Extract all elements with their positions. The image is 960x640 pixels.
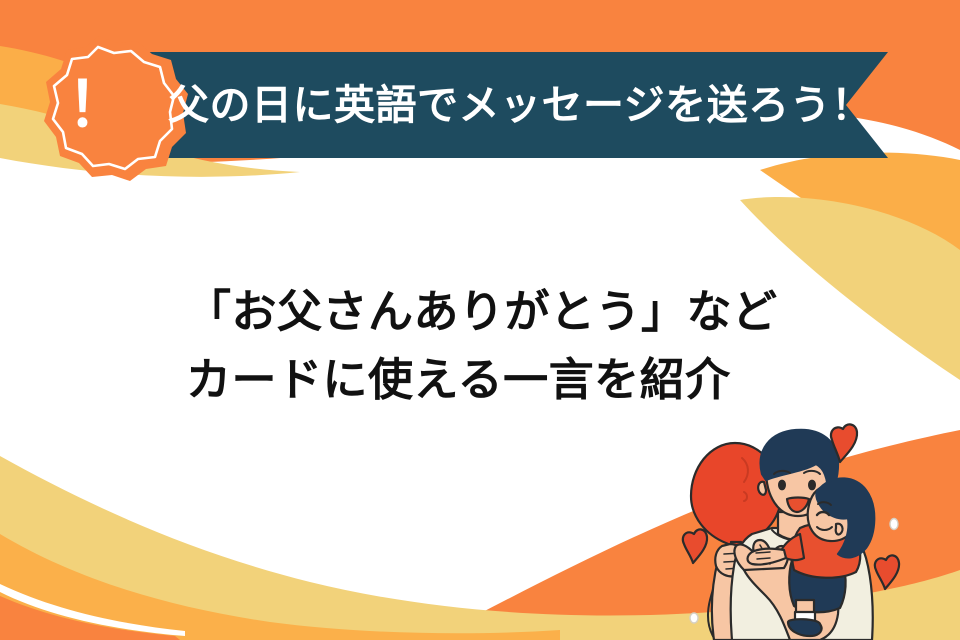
headline-line-1: 「お父さんありがとう」など (186, 278, 806, 346)
headline-line-2: カードに使える一言を紹介 (186, 346, 806, 414)
ribbon-title-text: 父の日に英語でメッセージを送ろう！ (168, 70, 858, 140)
headline: 「お父さんありがとう」など カードに使える一言を紹介 (186, 278, 806, 415)
badge-exclamation-mark: ！ (64, 62, 132, 150)
thumbnail-canvas: ！ 父の日に英語でメッセージを送ろう！ 「お父さんありがとう」など カードに使え… (0, 0, 960, 640)
